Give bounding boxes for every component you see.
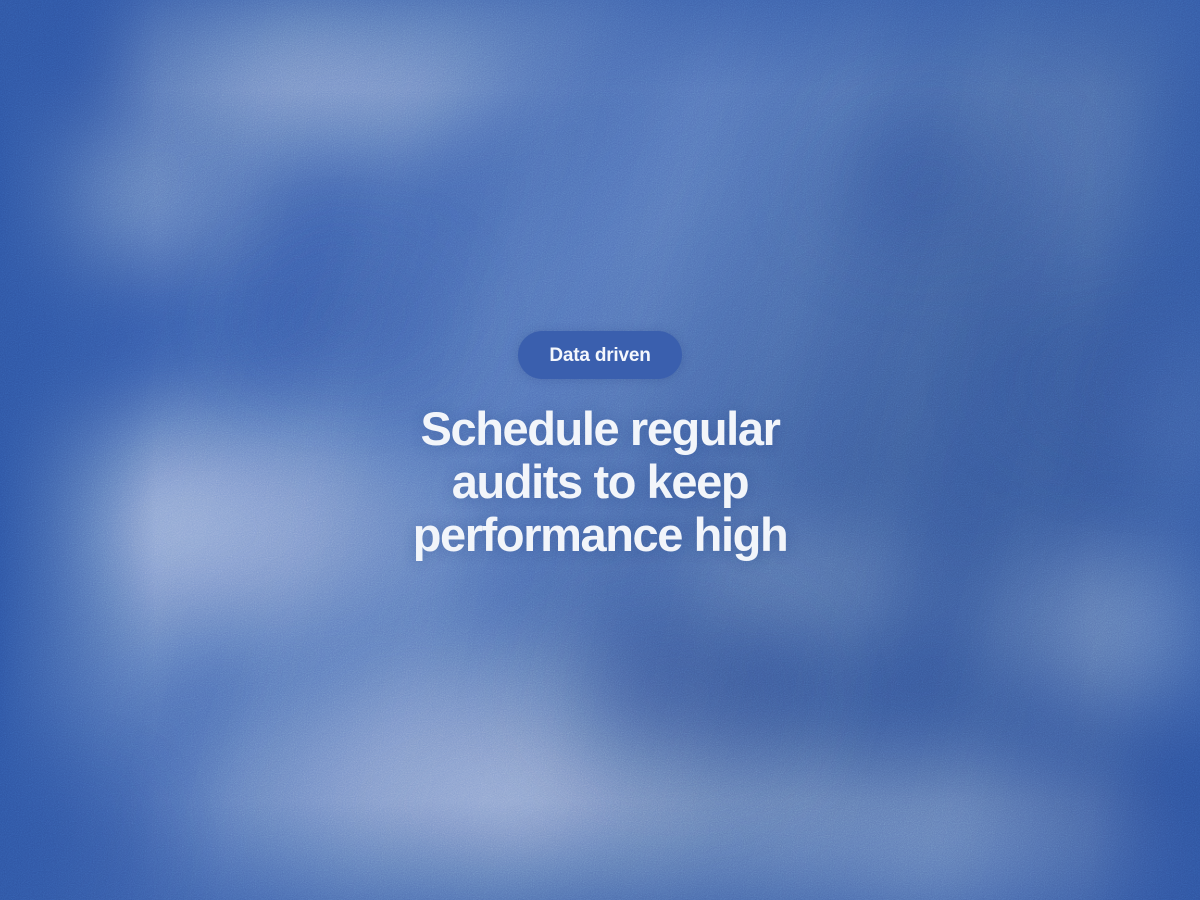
eyebrow-badge-label: Data driven [549,346,650,365]
hero-content: Data driven Schedule regular audits to k… [0,331,1200,561]
hero-headline-line-3: performance high [413,508,788,561]
hero-headline: Schedule regular audits to keep performa… [413,402,788,561]
hero-headline-line-2: audits to keep [413,455,788,508]
eyebrow-badge[interactable]: Data driven [518,331,681,379]
hero-headline-line-1: Schedule regular [413,402,788,455]
hero-banner: Data driven Schedule regular audits to k… [0,0,1200,900]
